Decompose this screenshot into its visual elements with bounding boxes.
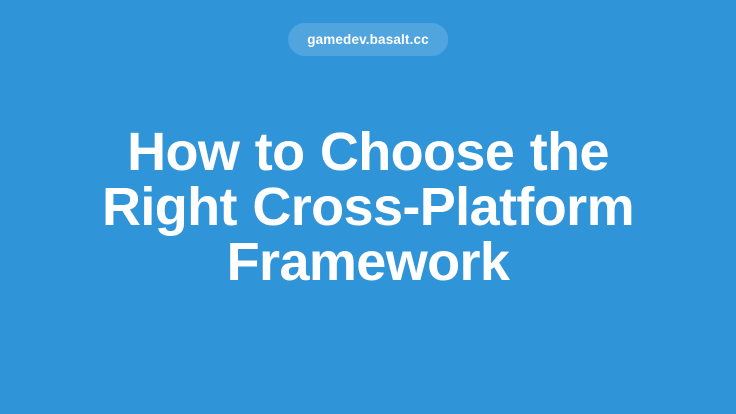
site-domain-badge: gamedev.basalt.cc [288,23,448,56]
og-share-card: gamedev.basalt.cc How to Choose the Righ… [0,0,736,414]
page-title: How to Choose the Right Cross-Platform F… [48,125,688,290]
site-domain-label: gamedev.basalt.cc [307,33,429,47]
headline-block: How to Choose the Right Cross-Platform F… [0,0,736,414]
page-title-line-1: How to Choose the [48,125,688,180]
page-title-line-2: Right Cross-Platform [48,180,688,235]
page-title-line-3: Framework [48,235,688,290]
